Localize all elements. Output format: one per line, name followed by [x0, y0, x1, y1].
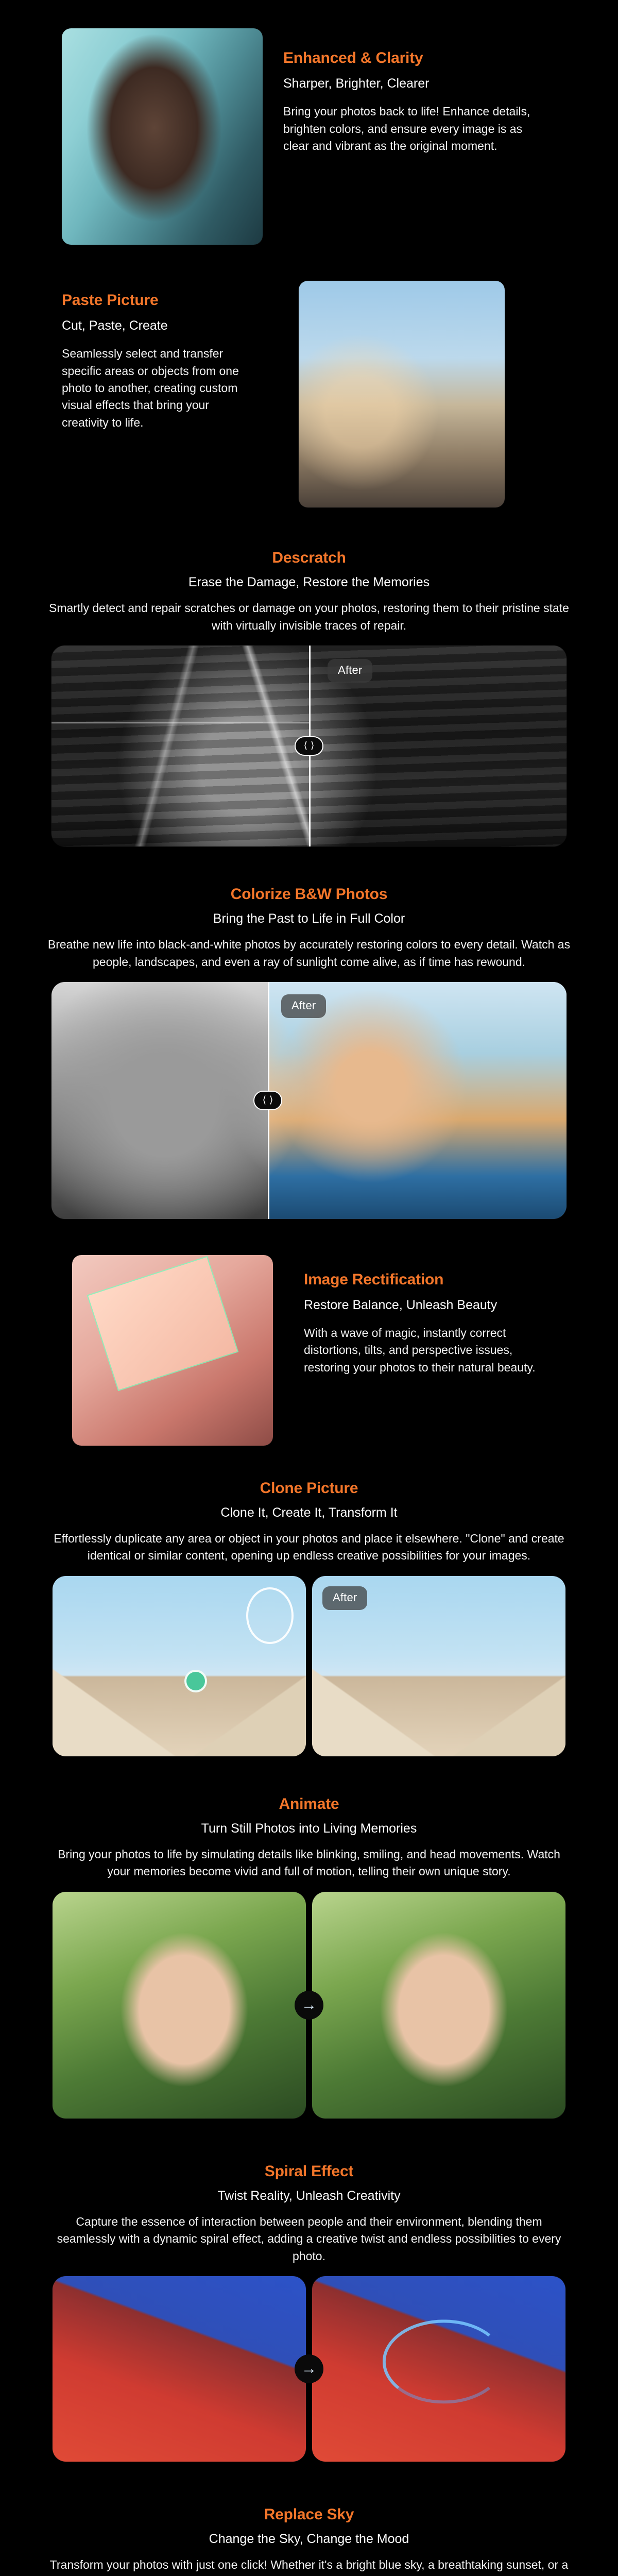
chevron-right-icon: ⟩	[269, 1095, 273, 1105]
media-enhanced-clarity	[0, 28, 268, 245]
copy-image-rectification: Image Rectification Restore Balance, Unl…	[288, 1255, 577, 1376]
section-body: Smartly detect and repair scratches or d…	[46, 600, 572, 634]
section-title: Colorize B&W Photos	[0, 885, 618, 904]
section-subtitle: Cut, Paste, Create	[62, 318, 247, 334]
photo-fill	[62, 28, 263, 245]
photo-acrobat-before	[53, 2276, 306, 2462]
section-colorize-bw-photos: Colorize B&W Photos Bring the Past to Li…	[0, 862, 618, 1234]
section-body: Breathe new life into black-and-white ph…	[46, 936, 572, 971]
photo-fill	[53, 2276, 306, 2462]
after-badge: After	[281, 994, 326, 1018]
after-badge: After	[322, 1586, 367, 1610]
section-subtitle: Erase the Damage, Restore the Memories	[0, 574, 618, 590]
section-title: Image Rectification	[304, 1270, 551, 1289]
arrow-right-icon[interactable]: →	[295, 1991, 323, 2020]
section-subtitle: Restore Balance, Unleash Beauty	[304, 1297, 551, 1313]
compare-slider-colorize[interactable]: After ⟨ ⟩	[51, 982, 566, 1219]
section-paste-picture: Paste Picture Cut, Paste, Create Seamles…	[0, 265, 618, 528]
photo-cyclist-before	[53, 1576, 306, 1756]
copy-paste-picture: Paste Picture Cut, Paste, Create Seamles…	[0, 281, 268, 431]
section-subtitle: Sharper, Brighter, Clearer	[283, 76, 551, 92]
section-body: With a wave of magic, instantly correct …	[304, 1325, 551, 1376]
feature-page: Enhanced & Clarity Sharper, Brighter, Cl…	[0, 0, 618, 2576]
after-badge: After	[328, 659, 372, 683]
photo-fill	[299, 281, 505, 507]
section-image-rectification: Image Rectification Restore Balance, Unl…	[0, 1234, 618, 1461]
section-animate: Animate Turn Still Photos into Living Me…	[0, 1772, 618, 2134]
copy-enhanced-clarity: Enhanced & Clarity Sharper, Brighter, Cl…	[268, 28, 577, 155]
section-body: Seamlessly select and transfer specific …	[62, 345, 247, 431]
pair-spiral-effect: →	[0, 2276, 618, 2462]
section-title: Enhanced & Clarity	[283, 49, 551, 67]
compare-slider-handle[interactable]: ⟨ ⟩	[295, 736, 323, 756]
media-image-rectification	[0, 1255, 288, 1446]
clone-source-ring-icon	[246, 1587, 294, 1644]
section-title: Spiral Effect	[0, 2162, 618, 2181]
section-body: Transform your photos with just one clic…	[46, 2556, 572, 2576]
photo-cyclist-after: After	[312, 1576, 565, 1756]
section-body: Bring your photos back to life! Enhance …	[283, 103, 551, 155]
photo-pink-desk-with-notebook-and-calculator	[72, 1255, 273, 1446]
photo-fill	[312, 2276, 565, 2462]
compare-slider-handle[interactable]: ⟨ ⟩	[253, 1091, 282, 1110]
photo-fill	[312, 1892, 565, 2119]
section-body: Capture the essence of interaction betwe…	[46, 2213, 572, 2265]
section-clone-picture: Clone Picture Clone It, Create It, Trans…	[0, 1461, 618, 1772]
section-subtitle: Change the Sky, Change the Mood	[0, 2531, 618, 2547]
section-title: Animate	[0, 1795, 618, 1814]
pair-clone-picture: After	[0, 1576, 618, 1756]
chevron-right-icon: ⟩	[311, 741, 314, 751]
media-paste-picture	[268, 281, 577, 507]
section-title: Paste Picture	[62, 291, 247, 310]
section-descratch: Descratch Erase the Damage, Restore the …	[0, 528, 618, 862]
section-replace-sky: Replace Sky Change the Sky, Change the M…	[0, 2477, 618, 2576]
section-body: Effortlessly duplicate any area or objec…	[46, 1530, 572, 1565]
photo-fill	[72, 1255, 273, 1446]
arrow-right-icon[interactable]: →	[295, 2354, 323, 2383]
section-title: Replace Sky	[0, 2505, 618, 2524]
photo-woman-in-teal-scarf-portrait	[62, 28, 263, 245]
section-spiral-effect: Spiral Effect Twist Reality, Unleash Cre…	[0, 2134, 618, 2477]
chevron-left-icon: ⟨	[263, 1095, 266, 1105]
section-title: Clone Picture	[0, 1479, 618, 1498]
photo-woman-before	[53, 1892, 306, 2119]
compare-slider-descratch[interactable]: After ⟨ ⟩	[51, 646, 566, 846]
photo-two-women-on-beach-jeep	[299, 281, 505, 507]
photo-woman-after	[312, 1892, 565, 2119]
section-subtitle: Bring the Past to Life in Full Color	[0, 911, 618, 927]
pair-animate: →	[0, 1892, 618, 2119]
section-title: Descratch	[0, 549, 618, 567]
section-subtitle: Clone It, Create It, Transform It	[0, 1505, 618, 1521]
section-subtitle: Turn Still Photos into Living Memories	[0, 1821, 618, 1837]
clone-target-dot-icon	[184, 1670, 207, 1692]
section-enhanced-clarity: Enhanced & Clarity Sharper, Brighter, Cl…	[0, 0, 618, 265]
chevron-left-icon: ⟨	[304, 741, 307, 751]
section-body: Bring your photos to life by simulating …	[46, 1846, 572, 1880]
section-subtitle: Twist Reality, Unleash Creativity	[0, 2188, 618, 2204]
photo-acrobat-after	[312, 2276, 565, 2462]
photo-fill	[53, 1892, 306, 2119]
